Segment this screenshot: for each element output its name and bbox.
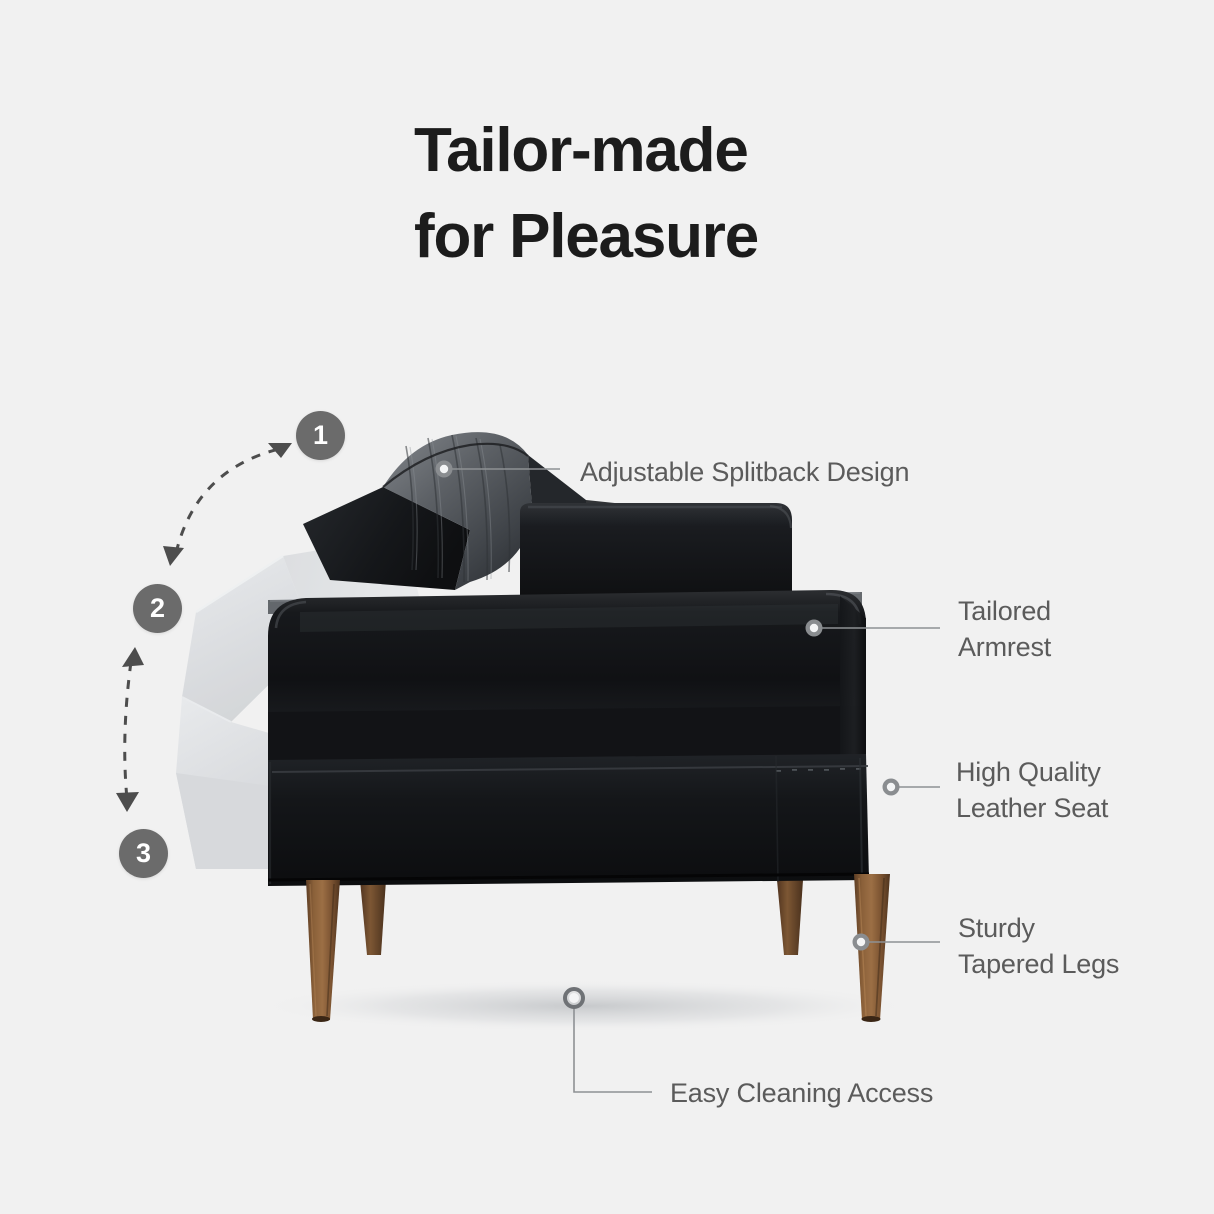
arrowhead-step2-lower [122, 647, 144, 667]
step-badge-1[interactable]: 1 [296, 411, 345, 460]
callout-label-easy-cleaning-access: Easy Cleaning Access [670, 1076, 933, 1112]
callout-label-tailored-armrest: Tailored Armrest [958, 594, 1051, 665]
infographic-canvas: Tailor-made for Pleasure [0, 0, 1214, 1214]
arrowhead-step3 [116, 792, 139, 812]
callout-label-high-quality-leather-seat: High Quality Leather Seat [956, 755, 1108, 826]
ghost-reclined-position [176, 536, 556, 871]
callout-label-sturdy-tapered-legs: Sturdy Tapered Legs [958, 911, 1119, 982]
step-badge-3-label: 3 [136, 838, 151, 869]
sofa-back-panel [520, 503, 792, 596]
marker-dot-high-quality-leather-seat [883, 779, 900, 796]
arrowhead-step2-upper [163, 546, 184, 566]
step-badge-3[interactable]: 3 [119, 829, 168, 878]
marker-dots [436, 461, 900, 1008]
sofa-leg-back-left [360, 880, 386, 955]
seat-top-seam [268, 592, 862, 614]
marker-dot-sturdy-tapered-legs [853, 934, 870, 951]
arrowhead-step1 [268, 443, 292, 458]
marker-dot-adjustable-splitback-design [436, 461, 453, 478]
step-badge-1-label: 1 [313, 420, 328, 451]
tailored-armrest [268, 590, 866, 764]
sofa-leg-front-left [306, 880, 340, 1022]
sofa-leg-back-right [777, 880, 803, 955]
leather-seat-base [268, 754, 869, 886]
leader-line-easy-cleaning-access [574, 1008, 652, 1092]
sofa-leg-front-right [854, 874, 890, 1022]
recline-arc-top [176, 449, 279, 553]
callout-label-adjustable-splitback-design: Adjustable Splitback Design [580, 455, 909, 491]
recline-arc-bottom [125, 662, 131, 799]
step-badge-2-label: 2 [150, 593, 165, 624]
marker-dot-tailored-armrest [806, 620, 823, 637]
page-title: Tailor-made for Pleasure [414, 108, 1054, 279]
step-badge-2[interactable]: 2 [133, 584, 182, 633]
marker-dot-easy-cleaning-access [565, 989, 583, 1007]
